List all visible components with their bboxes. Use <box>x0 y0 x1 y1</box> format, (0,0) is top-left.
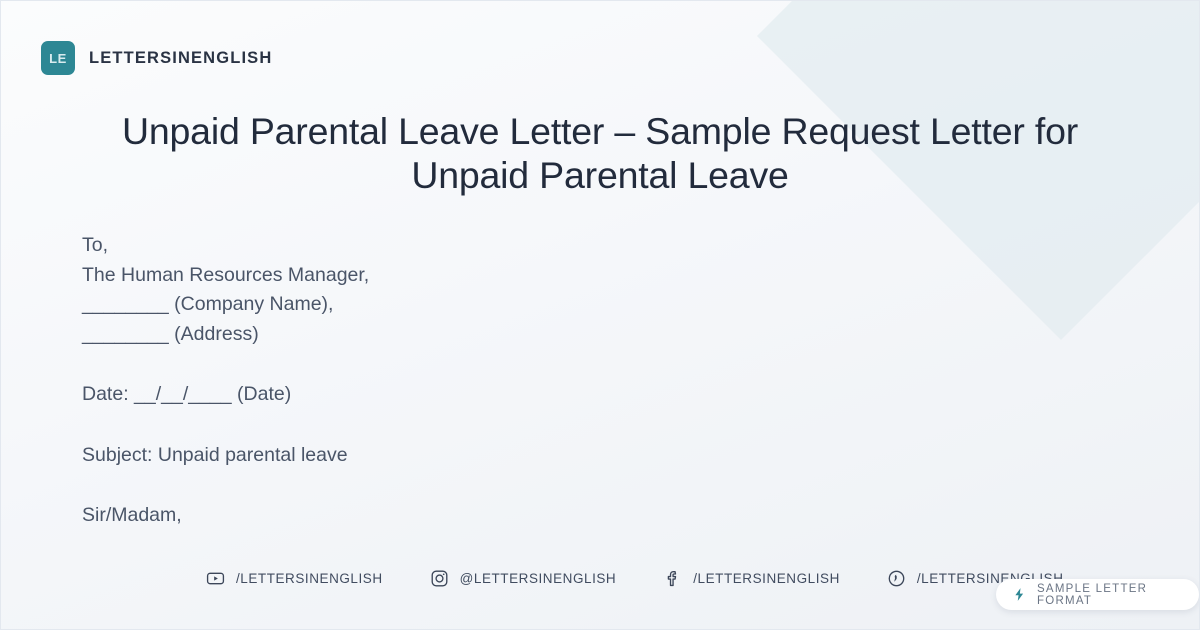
address-line: To, <box>82 231 1079 261</box>
brand-mark-icon: LE <box>41 41 75 75</box>
social-label: @LETTERSINENGLISH <box>460 571 617 586</box>
brand-logo: LE LETTERSINENGLISH <box>41 41 272 75</box>
social-label: /LETTERSINENGLISH <box>693 571 840 586</box>
salutation-line: Sir/Madam, <box>82 501 1079 531</box>
instagram-icon <box>430 569 449 588</box>
page-title: Unpaid Parental Leave Letter – Sample Re… <box>61 109 1139 198</box>
address-line: ________ (Address) <box>82 320 1079 350</box>
subject-line: Subject: Unpaid parental leave <box>82 441 1079 471</box>
address-block: To, The Human Resources Manager, _______… <box>82 231 1079 349</box>
social-links: /LETTERSINENGLISH @LETTERSINENGLISH /LET… <box>206 569 1064 588</box>
facebook-icon <box>663 569 682 588</box>
address-line: ________ (Company Name), <box>82 290 1079 320</box>
poster-canvas: LE LETTERSINENGLISH Unpaid Parental Leav… <box>0 0 1200 630</box>
youtube-icon <box>206 569 225 588</box>
badge-label: SAMPLE LETTER FORMAT <box>1037 583 1179 607</box>
letter-body: To, The Human Resources Manager, _______… <box>82 231 1079 531</box>
date-line: Date: __/__/____ (Date) <box>82 380 1079 410</box>
social-label: /LETTERSINENGLISH <box>236 571 383 586</box>
social-link-youtube[interactable]: /LETTERSINENGLISH <box>206 569 383 588</box>
lightning-bolt-icon <box>1012 587 1027 602</box>
social-link-facebook[interactable]: /LETTERSINENGLISH <box>663 569 840 588</box>
address-line: The Human Resources Manager, <box>82 261 1079 291</box>
pinterest-icon <box>887 569 906 588</box>
social-link-instagram[interactable]: @LETTERSINENGLISH <box>430 569 617 588</box>
brand-name: LETTERSINENGLISH <box>89 49 272 68</box>
sample-letter-format-badge[interactable]: SAMPLE LETTER FORMAT <box>996 579 1199 610</box>
